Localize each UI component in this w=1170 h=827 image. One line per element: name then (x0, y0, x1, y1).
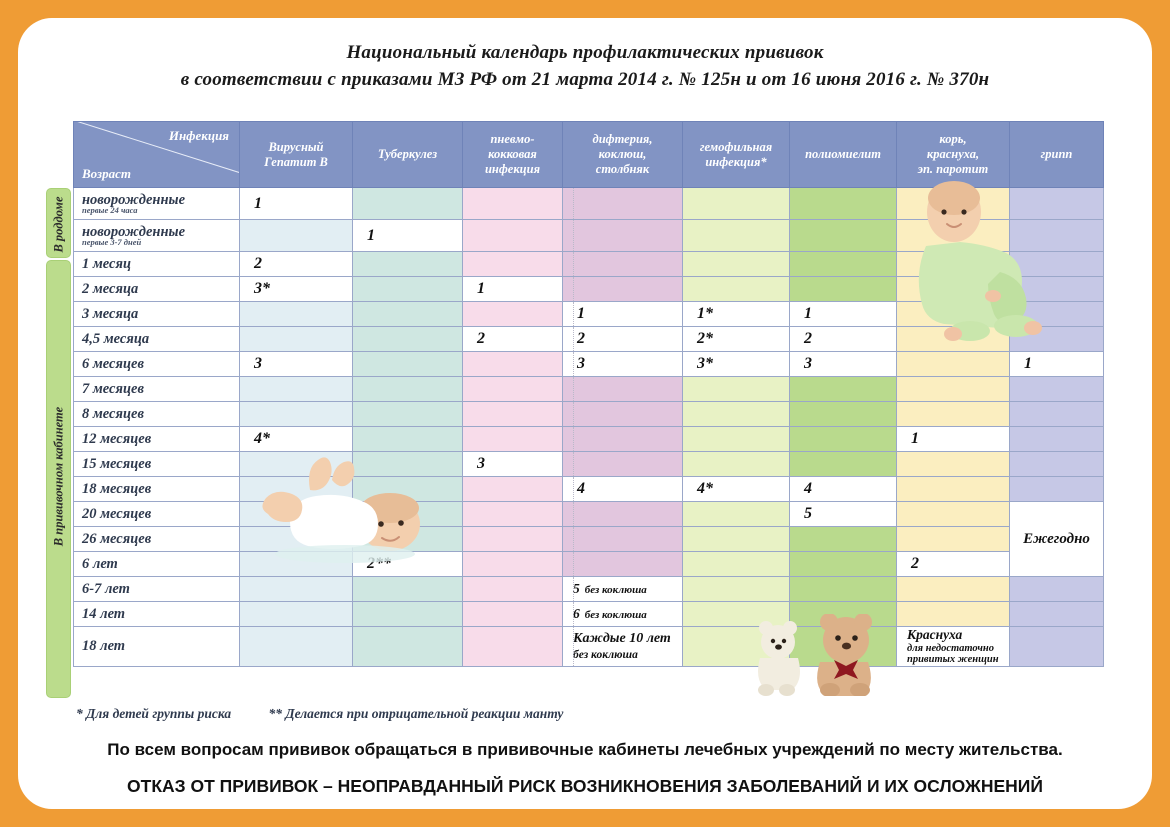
cell-poliomyelitis: 1 (790, 302, 897, 327)
cell-measles-rubella-mumps (897, 477, 1010, 502)
cell-influenza (1010, 327, 1104, 352)
cell-hepatitis-b (240, 627, 353, 667)
side-tab-maternity: В роддоме (46, 188, 71, 258)
row-age-label: 4,5 месяца (74, 327, 240, 352)
row-age-label: 6 месяцев (74, 352, 240, 377)
cell-measles-rubella-mumps (897, 252, 1010, 277)
cell-hepatitis-b (240, 220, 353, 252)
cell-hepatitis-b (240, 452, 353, 477)
vaccination-schedule-table-wrap: Инфекция Возраст Вирусный Гепатит В Тубе… (73, 121, 1103, 667)
cell-poliomyelitis (790, 552, 897, 577)
cell-value: 3* (254, 280, 270, 297)
cell-note: без коклюша (573, 648, 682, 662)
column-header-influenza: грипп (1010, 122, 1104, 188)
row-age-label: 8 месяцев (74, 402, 240, 427)
title-line-2: в соответствии с приказами МЗ РФ от 21 м… (18, 66, 1152, 94)
column-header-measles-rubella-mumps: корь, краснуха, эп. паротит (897, 122, 1010, 188)
cell-diphtheria-pertussis-tetanus (563, 502, 683, 527)
column-header-tuberculosis: Туберкулез (353, 122, 463, 188)
cell-tuberculosis (353, 627, 463, 667)
cell-tuberculosis (353, 577, 463, 602)
cell-measles-rubella-mumps (897, 377, 1010, 402)
row-age-label: 14 лет (74, 602, 240, 627)
cell-pneumococcal (463, 602, 563, 627)
cell-measles-rubella-mumps (897, 302, 1010, 327)
row-age-label: 2 месяца (74, 277, 240, 302)
cell-haemophilus: 3* (683, 352, 790, 377)
cell-hepatitis-b: 3* (240, 277, 353, 302)
cell-influenza (1010, 377, 1104, 402)
cell-value: 3 (804, 355, 812, 372)
cell-poliomyelitis (790, 427, 897, 452)
cell-tuberculosis (353, 602, 463, 627)
cell-value: 1 (911, 430, 919, 447)
cell-measles-rubella-mumps (897, 602, 1010, 627)
cell-value: 1 (804, 305, 812, 322)
table-row: 18 летКаждые 10 летбез коклюшаКраснухадл… (74, 627, 1104, 667)
cell-diphtheria-pertussis-tetanus (563, 402, 683, 427)
cell-tuberculosis (353, 452, 463, 477)
cell-measles-rubella-mumps (897, 352, 1010, 377)
row-age-label: 18 месяцев (74, 477, 240, 502)
cell-tuberculosis (353, 252, 463, 277)
row-age-label: новорожденныепервые 3-7 дней (74, 220, 240, 252)
cell-diphtheria-pertussis-tetanus (563, 452, 683, 477)
table-row: 14 лет6без коклюша (74, 602, 1104, 627)
cell-tuberculosis (353, 377, 463, 402)
cell-poliomyelitis (790, 220, 897, 252)
cell-hepatitis-b (240, 602, 353, 627)
cell-haemophilus (683, 188, 790, 220)
table-row: 6-7 лет5без коклюша (74, 577, 1104, 602)
table-row: 6 лет2**2 (74, 552, 1104, 577)
cell-measles-rubella-mumps (897, 452, 1010, 477)
cell-influenza (1010, 602, 1104, 627)
table-row: новорожденныепервые 3-7 дней1 (74, 220, 1104, 252)
cell-value: 2 (477, 330, 485, 347)
cell-measles-rubella-mumps (897, 527, 1010, 552)
cell-value: 2 (577, 330, 585, 347)
cell-diphtheria-pertussis-tetanus (563, 427, 683, 452)
cell-value: 1 (577, 305, 585, 322)
cell-tuberculosis (353, 402, 463, 427)
cell-value: 1 (254, 195, 262, 212)
cell-hepatitis-b (240, 377, 353, 402)
cell-hepatitis-b (240, 327, 353, 352)
cell-poliomyelitis (790, 252, 897, 277)
cell-pneumococcal: 3 (463, 452, 563, 477)
vaccination-schedule-table: Инфекция Возраст Вирусный Гепатит В Тубе… (73, 121, 1104, 667)
row-age-sublabel: первые 3-7 дней (82, 238, 239, 247)
cell-influenza: Ежегодно (1010, 502, 1104, 577)
cell-value: 4* (697, 480, 713, 497)
cell-tuberculosis (353, 277, 463, 302)
cell-value: 5 (573, 581, 580, 596)
table-header: Инфекция Возраст Вирусный Гепатит В Тубе… (74, 122, 1104, 188)
cell-haemophilus: 1* (683, 302, 790, 327)
cell-pneumococcal (463, 302, 563, 327)
cell-measles-rubella-mumps (897, 327, 1010, 352)
cell-poliomyelitis (790, 577, 897, 602)
cell-hepatitis-b: 1 (240, 188, 353, 220)
cell-poliomyelitis: 4 (790, 477, 897, 502)
poster-title: Национальный календарь профилактических … (18, 18, 1152, 94)
cell-poliomyelitis (790, 188, 897, 220)
cell-diphtheria-pertussis-tetanus (563, 277, 683, 302)
cell-haemophilus (683, 527, 790, 552)
table-row: 26 месяцев (74, 527, 1104, 552)
cell-poliomyelitis (790, 527, 897, 552)
cell-pneumococcal (463, 402, 563, 427)
cell-hepatitis-b (240, 477, 353, 502)
side-tab-clinic-label: В прививочном кабинете (52, 385, 67, 569)
cell-haemophilus (683, 577, 790, 602)
cell-influenza (1010, 427, 1104, 452)
side-tab-clinic: В прививочном кабинете (46, 260, 71, 698)
cell-value: 2 (804, 330, 812, 347)
row-age-label: 6-7 лет (74, 577, 240, 602)
row-age-label: 3 месяца (74, 302, 240, 327)
cell-value: 1 (367, 227, 375, 244)
cell-value: Ежегодно (1023, 531, 1090, 547)
cell-pneumococcal (463, 627, 563, 667)
cell-poliomyelitis (790, 627, 897, 667)
cell-influenza (1010, 577, 1104, 602)
table-row: 7 месяцев (74, 377, 1104, 402)
cell-haemophilus (683, 502, 790, 527)
table-row: 1 месяц2 (74, 252, 1104, 277)
cell-influenza (1010, 402, 1104, 427)
row-age-label: 6 лет (74, 552, 240, 577)
cell-haemophilus (683, 377, 790, 402)
cell-hepatitis-b (240, 502, 353, 527)
cell-value: 2 (254, 255, 262, 272)
cell-influenza (1010, 252, 1104, 277)
cell-value: Каждые 10 лет (573, 631, 671, 646)
column-header-hepatitis-b: Вирусный Гепатит В (240, 122, 353, 188)
cell-pneumococcal: 2 (463, 327, 563, 352)
cell-value: 4 (804, 480, 812, 497)
cell-value: 1 (477, 280, 485, 297)
cell-haemophilus (683, 627, 790, 667)
row-age-label: 26 месяцев (74, 527, 240, 552)
column-header-diphtheria-pertussis-tetanus: дифтерия, коклюш, столбняк (563, 122, 683, 188)
cell-influenza (1010, 477, 1104, 502)
cell-pneumococcal (463, 427, 563, 452)
cell-diphtheria-pertussis-tetanus: 4 (563, 477, 683, 502)
cell-measles-rubella-mumps: 1 (897, 427, 1010, 452)
cell-poliomyelitis (790, 377, 897, 402)
cell-pneumococcal (463, 220, 563, 252)
cell-pneumococcal (463, 527, 563, 552)
cell-value: 3 (254, 355, 262, 372)
cell-value: 2* (697, 330, 713, 347)
row-age-label: 15 месяцев (74, 452, 240, 477)
cell-hepatitis-b (240, 527, 353, 552)
cell-value: 3 (577, 355, 585, 372)
cell-value: 3* (697, 355, 713, 372)
cell-note: для недостаточно привитых женщин (907, 643, 1009, 665)
column-header-pneumococcal: пневмо- кокковая инфекция (463, 122, 563, 188)
table-corner-header: Инфекция Возраст (74, 122, 240, 188)
cell-diphtheria-pertussis-tetanus (563, 552, 683, 577)
message-line-2: ОТКАЗ ОТ ПРИВИВОК – НЕОПРАВДАННЫЙ РИСК В… (18, 776, 1152, 797)
footnote-one: * Для детей группы риска (76, 706, 231, 721)
cell-pneumococcal (463, 352, 563, 377)
row-age-label: новорожденныепервые 24 часа (74, 188, 240, 220)
cell-poliomyelitis: 3 (790, 352, 897, 377)
cell-hepatitis-b: 4* (240, 427, 353, 452)
side-tab-maternity-label: В роддоме (52, 195, 67, 255)
cell-poliomyelitis: 5 (790, 502, 897, 527)
table-row: 18 месяцев44*4 (74, 477, 1104, 502)
cell-tuberculosis (353, 352, 463, 377)
cell-diphtheria-pertussis-tetanus: 5без коклюша (563, 577, 683, 602)
cell-influenza (1010, 277, 1104, 302)
cell-value: 1 (1024, 355, 1032, 372)
cell-diphtheria-pertussis-tetanus (563, 220, 683, 252)
table-row: 4,5 месяца222*2 (74, 327, 1104, 352)
cell-haemophilus (683, 220, 790, 252)
cell-haemophilus (683, 252, 790, 277)
cell-poliomyelitis (790, 602, 897, 627)
table-row: 8 месяцев (74, 402, 1104, 427)
row-age-label: 18 лет (74, 627, 240, 667)
row-age-sublabel: первые 24 часа (82, 206, 239, 215)
cell-measles-rubella-mumps (897, 220, 1010, 252)
cell-haemophilus (683, 427, 790, 452)
cell-hepatitis-b: 2 (240, 252, 353, 277)
cell-haemophilus (683, 402, 790, 427)
row-age-label: 12 месяцев (74, 427, 240, 452)
cell-tuberculosis (353, 477, 463, 502)
row-age-label: 1 месяц (74, 252, 240, 277)
cell-pneumococcal (463, 188, 563, 220)
cell-influenza (1010, 302, 1104, 327)
cell-haemophilus (683, 552, 790, 577)
corner-age-label: Возраст (82, 166, 131, 181)
row-age-label: 20 месяцев (74, 502, 240, 527)
cell-haemophilus (683, 277, 790, 302)
footnotes: * Для детей группы риска ** Делается при… (76, 706, 563, 722)
cell-influenza: 1 (1010, 352, 1104, 377)
cell-value: 2 (911, 555, 919, 572)
cell-tuberculosis (353, 302, 463, 327)
cell-poliomyelitis (790, 452, 897, 477)
cell-diphtheria-pertussis-tetanus (563, 188, 683, 220)
cell-haemophilus (683, 602, 790, 627)
cell-hepatitis-b: 3 (240, 352, 353, 377)
cell-tuberculosis (353, 188, 463, 220)
table-row: 6 месяцев333*31 (74, 352, 1104, 377)
cell-pneumococcal (463, 477, 563, 502)
cell-influenza (1010, 452, 1104, 477)
cell-tuberculosis: 2** (353, 552, 463, 577)
cell-measles-rubella-mumps (897, 577, 1010, 602)
cell-diphtheria-pertussis-tetanus: 3 (563, 352, 683, 377)
cell-poliomyelitis (790, 402, 897, 427)
cell-value: 4 (577, 480, 585, 497)
table-header-row: Инфекция Возраст Вирусный Гепатит В Тубе… (74, 122, 1104, 188)
cell-value: 4* (254, 430, 270, 447)
poster-card: Национальный календарь профилактических … (18, 18, 1152, 809)
cell-influenza (1010, 188, 1104, 220)
cell-tuberculosis (353, 327, 463, 352)
title-line-1: Национальный календарь профилактических … (18, 40, 1152, 66)
cell-influenza (1010, 627, 1104, 667)
cell-poliomyelitis: 2 (790, 327, 897, 352)
cell-value: 2** (367, 555, 391, 572)
cell-value: 5 (804, 505, 812, 522)
cell-tuberculosis (353, 427, 463, 452)
column-header-poliomyelitis: полиомиелит (790, 122, 897, 188)
cell-haemophilus (683, 452, 790, 477)
cell-pneumococcal (463, 377, 563, 402)
cell-value: 6 (573, 606, 580, 621)
column-header-haemophilus: гемофильная инфекция* (683, 122, 790, 188)
cell-diphtheria-pertussis-tetanus: 6без коклюша (563, 602, 683, 627)
cell-pneumococcal (463, 552, 563, 577)
table-row: 3 месяца11*1 (74, 302, 1104, 327)
cell-diphtheria-pertussis-tetanus: 2 (563, 327, 683, 352)
cell-value: Краснуха (907, 627, 962, 642)
cell-diphtheria-pertussis-tetanus: Каждые 10 летбез коклюша (563, 627, 683, 667)
cell-note: без коклюша (585, 609, 647, 621)
cell-diphtheria-pertussis-tetanus (563, 377, 683, 402)
cell-pneumococcal: 1 (463, 277, 563, 302)
cell-pneumococcal (463, 502, 563, 527)
cell-influenza (1010, 220, 1104, 252)
cell-measles-rubella-mumps (897, 402, 1010, 427)
cell-diphtheria-pertussis-tetanus (563, 527, 683, 552)
cell-value: 3 (477, 455, 485, 472)
cell-hepatitis-b (240, 402, 353, 427)
cell-diphtheria-pertussis-tetanus: 1 (563, 302, 683, 327)
table-row: новорожденныепервые 24 часа1 (74, 188, 1104, 220)
cell-tuberculosis (353, 502, 463, 527)
row-age-label: 7 месяцев (74, 377, 240, 402)
cell-hepatitis-b (240, 552, 353, 577)
cell-tuberculosis: 1 (353, 220, 463, 252)
table-row: 15 месяцев3 (74, 452, 1104, 477)
cell-measles-rubella-mumps: Краснухадля недостаточно привитых женщин (897, 627, 1010, 667)
cell-pneumococcal (463, 252, 563, 277)
cell-tuberculosis (353, 527, 463, 552)
message-line-1: По всем вопросам прививок обращаться в п… (18, 740, 1152, 760)
cell-hepatitis-b (240, 577, 353, 602)
cell-haemophilus: 4* (683, 477, 790, 502)
table-row: 20 месяцев5Ежегодно (74, 502, 1104, 527)
table-body: новорожденныепервые 24 часа1новорожденны… (74, 188, 1104, 667)
cell-hepatitis-b (240, 302, 353, 327)
table-row: 2 месяца3*1 (74, 277, 1104, 302)
cell-poliomyelitis (790, 277, 897, 302)
cell-measles-rubella-mumps (897, 188, 1010, 220)
cell-note: без коклюша (585, 584, 647, 596)
cell-pneumococcal (463, 577, 563, 602)
cell-value: 1* (697, 305, 713, 322)
table-row: 12 месяцев4*1 (74, 427, 1104, 452)
cell-diphtheria-pertussis-tetanus (563, 252, 683, 277)
cell-measles-rubella-mumps: 2 (897, 552, 1010, 577)
cell-measles-rubella-mumps (897, 277, 1010, 302)
cell-measles-rubella-mumps (897, 502, 1010, 527)
cell-haemophilus: 2* (683, 327, 790, 352)
corner-infection-label: Инфекция (169, 128, 229, 143)
footnote-two: ** Делается при отрицательной реакции ма… (269, 706, 564, 721)
